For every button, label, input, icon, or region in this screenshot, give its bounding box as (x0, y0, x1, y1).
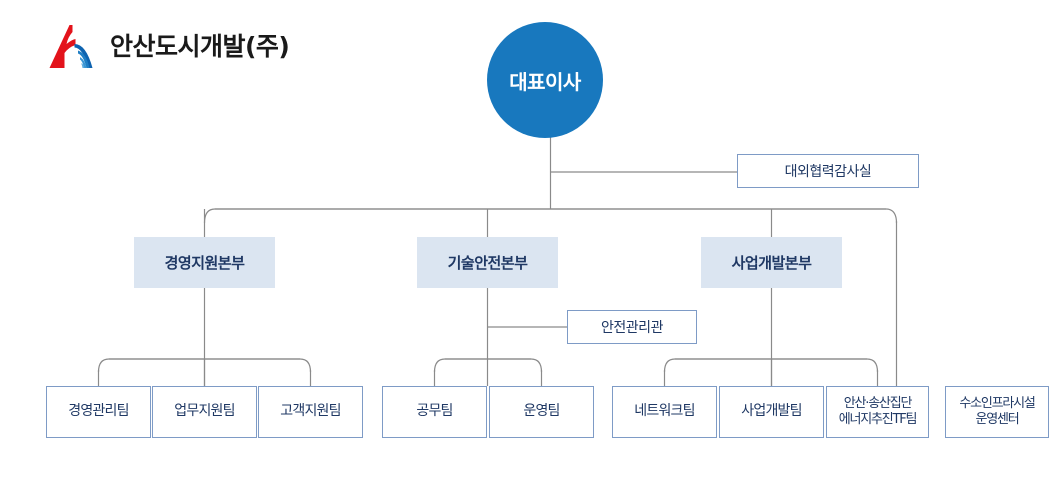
node-team-construction-affairs[interactable]: 공무팀 (382, 386, 487, 438)
node-ceo-label: 대표이사 (487, 66, 603, 95)
node-hydrogen-infra-center-line2: 운영센터 (975, 412, 1018, 427)
node-team-network-label: 네트워크팀 (613, 403, 716, 421)
node-hydrogen-infra-center-label: 수소인프라시설 운영센터 (946, 396, 1048, 429)
node-team-business-dev-label: 사업개발팀 (720, 403, 823, 421)
node-audit-office-label: 대외협력감사실 (738, 161, 918, 181)
ansan-udc-logo-icon (48, 24, 100, 70)
node-team-operations-label: 운영팀 (490, 403, 593, 421)
node-team-customer-support[interactable]: 고객지원팀 (258, 386, 363, 438)
node-division-business-development[interactable]: 사업개발본부 (701, 237, 842, 288)
connector-div3-bus (665, 359, 878, 372)
brand-logo-group: 안산도시개발(주) (48, 24, 289, 70)
connector-main-bus (205, 209, 897, 223)
node-audit-office[interactable]: 대외협력감사실 (737, 154, 919, 188)
brand-name: 안산도시개발(주) (110, 34, 289, 61)
node-team-business-dev[interactable]: 사업개발팀 (719, 386, 824, 438)
node-division-management-support-label: 경영지원본부 (134, 252, 275, 273)
connector-div2-bus (435, 359, 542, 372)
node-team-management-planning[interactable]: 경영관리팀 (46, 386, 151, 438)
node-team-operations[interactable]: 운영팀 (489, 386, 594, 438)
node-team-customer-support-label: 고객지원팀 (259, 403, 362, 421)
node-safety-officer-label: 안전관리관 (568, 317, 696, 337)
node-team-network[interactable]: 네트워크팀 (612, 386, 717, 438)
node-hydrogen-infra-center[interactable]: 수소인프라시설 운영센터 (945, 386, 1049, 438)
org-chart-canvas: 안산도시개발(주) 대표이사 대외협력감사실 경영지원본부 기술안전본부 사업개… (0, 0, 1054, 504)
node-division-management-support[interactable]: 경영지원본부 (134, 237, 275, 288)
node-team-management-planning-label: 경영관리팀 (47, 403, 150, 421)
node-division-business-development-label: 사업개발본부 (701, 252, 842, 273)
node-safety-officer[interactable]: 안전관리관 (567, 310, 697, 344)
node-team-ansan-songsan-tf-label: 안산·송산집단 에너지추진TF팀 (827, 396, 928, 429)
node-team-construction-affairs-label: 공무팀 (383, 403, 486, 421)
node-hydrogen-infra-center-line1: 수소인프라시설 (959, 396, 1034, 411)
connector-div1-bus (99, 359, 311, 372)
node-division-technical-safety-label: 기술안전본부 (417, 252, 558, 273)
node-team-ansan-songsan-tf[interactable]: 안산·송산집단 에너지추진TF팀 (826, 386, 929, 438)
node-division-technical-safety[interactable]: 기술안전본부 (417, 237, 558, 288)
node-team-ansan-songsan-tf-line2: 에너지추진TF팀 (839, 412, 917, 427)
node-team-business-support[interactable]: 업무지원팀 (152, 386, 257, 438)
node-team-ansan-songsan-tf-line1: 안산·송산집단 (844, 396, 912, 411)
node-team-business-support-label: 업무지원팀 (153, 403, 256, 421)
node-ceo[interactable]: 대표이사 (487, 22, 603, 138)
